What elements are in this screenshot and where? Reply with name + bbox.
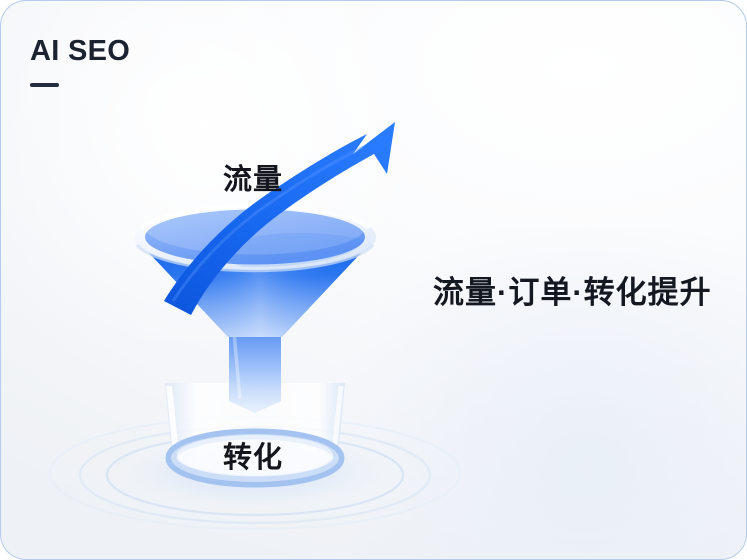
title-underline-rule <box>30 83 59 87</box>
funnel-cone <box>134 237 376 337</box>
cone-front-lip <box>151 248 359 337</box>
arrow-tail-inside-bowl <box>197 205 299 307</box>
label-traffic: 流量 <box>223 156 283 198</box>
funnel-stem <box>229 331 281 413</box>
title-block: AI SEO <box>30 37 130 87</box>
headline-text: 流量·订单·转化提升 <box>433 276 712 310</box>
growth-arrow <box>164 122 395 315</box>
page-title: AI SEO <box>30 37 130 66</box>
funnel-rim <box>134 204 376 271</box>
slide-canvas: AI SEO 流量·订单·转化提升 <box>0 0 747 560</box>
bowl-inner-shading <box>145 200 381 274</box>
label-conversion: 转化 <box>223 434 283 476</box>
